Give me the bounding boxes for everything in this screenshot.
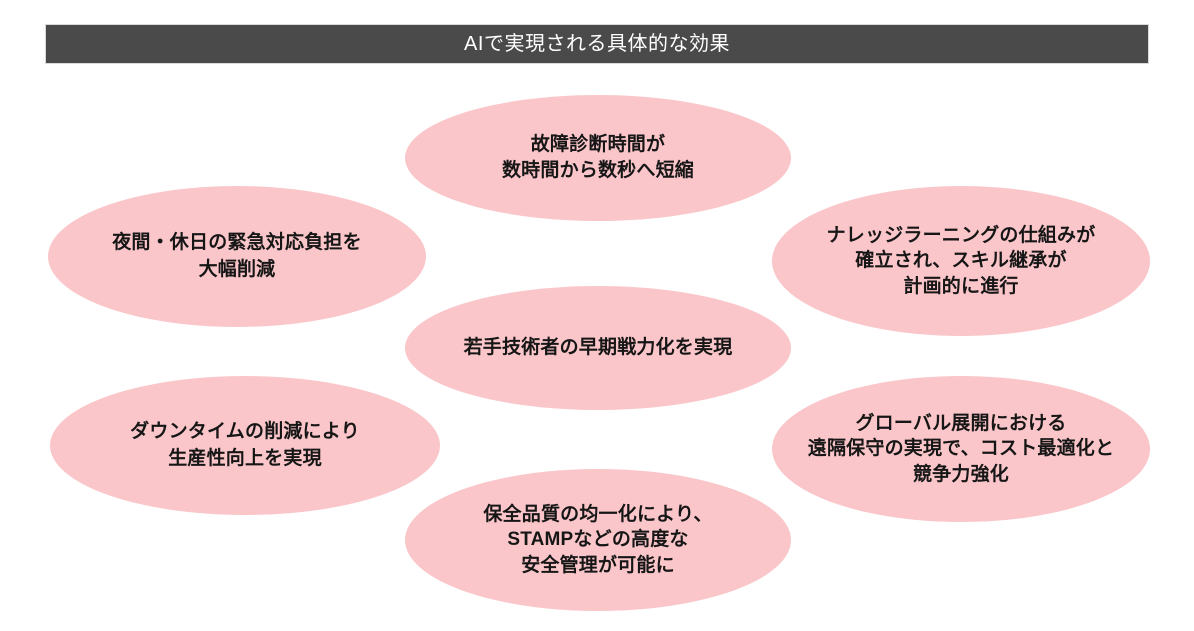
page-title: AIで実現される具体的な効果: [464, 34, 730, 54]
bubble-downtime-productivity: ダウンタイムの削減により 生産性向上を実現: [50, 376, 440, 515]
slide-title-bar: AIで実現される具体的な効果: [45, 24, 1149, 64]
bubble-night-holiday-burden: 夜間・休日の緊急対応負担を 大幅削減: [48, 186, 426, 327]
bubble-label: 保全品質の均一化により、 STAMPなどの高度な 安全管理が可能に: [473, 502, 722, 578]
bubble-label: 故障診断時間が 数時間から数秒へ短縮: [492, 132, 704, 184]
bubble-fault-diagnosis-time: 故障診断時間が 数時間から数秒へ短縮: [405, 95, 791, 221]
bubble-global-remote-maintenance: グローバル展開における 遠隔保守の実現で、コスト最適化と 競争力強化: [772, 376, 1150, 522]
bubble-label: 夜間・休日の緊急対応負担を 大幅削減: [102, 230, 372, 282]
bubble-maintenance-quality-stamp: 保全品質の均一化により、 STAMPなどの高度な 安全管理が可能に: [405, 469, 791, 611]
bubble-knowledge-learning: ナレッジラーニングの仕組みが 確立され、スキル継承が 計画的に進行: [772, 186, 1150, 336]
bubble-label: グローバル展開における 遠隔保守の実現で、コスト最適化と 競争力強化: [798, 411, 1124, 487]
bubble-label: 若手技術者の早期戦力化を実現: [454, 335, 743, 361]
bubble-label: ナレッジラーニングの仕組みが 確立され、スキル継承が 計画的に進行: [817, 223, 1106, 299]
bubble-label: ダウンタイムの削減により 生産性向上を実現: [120, 419, 370, 471]
slide-canvas: AIで実現される具体的な効果 故障診断時間が 数時間から数秒へ短縮 夜間・休日の…: [0, 0, 1194, 631]
bubble-young-engineer-ready: 若手技術者の早期戦力化を実現: [405, 286, 791, 410]
